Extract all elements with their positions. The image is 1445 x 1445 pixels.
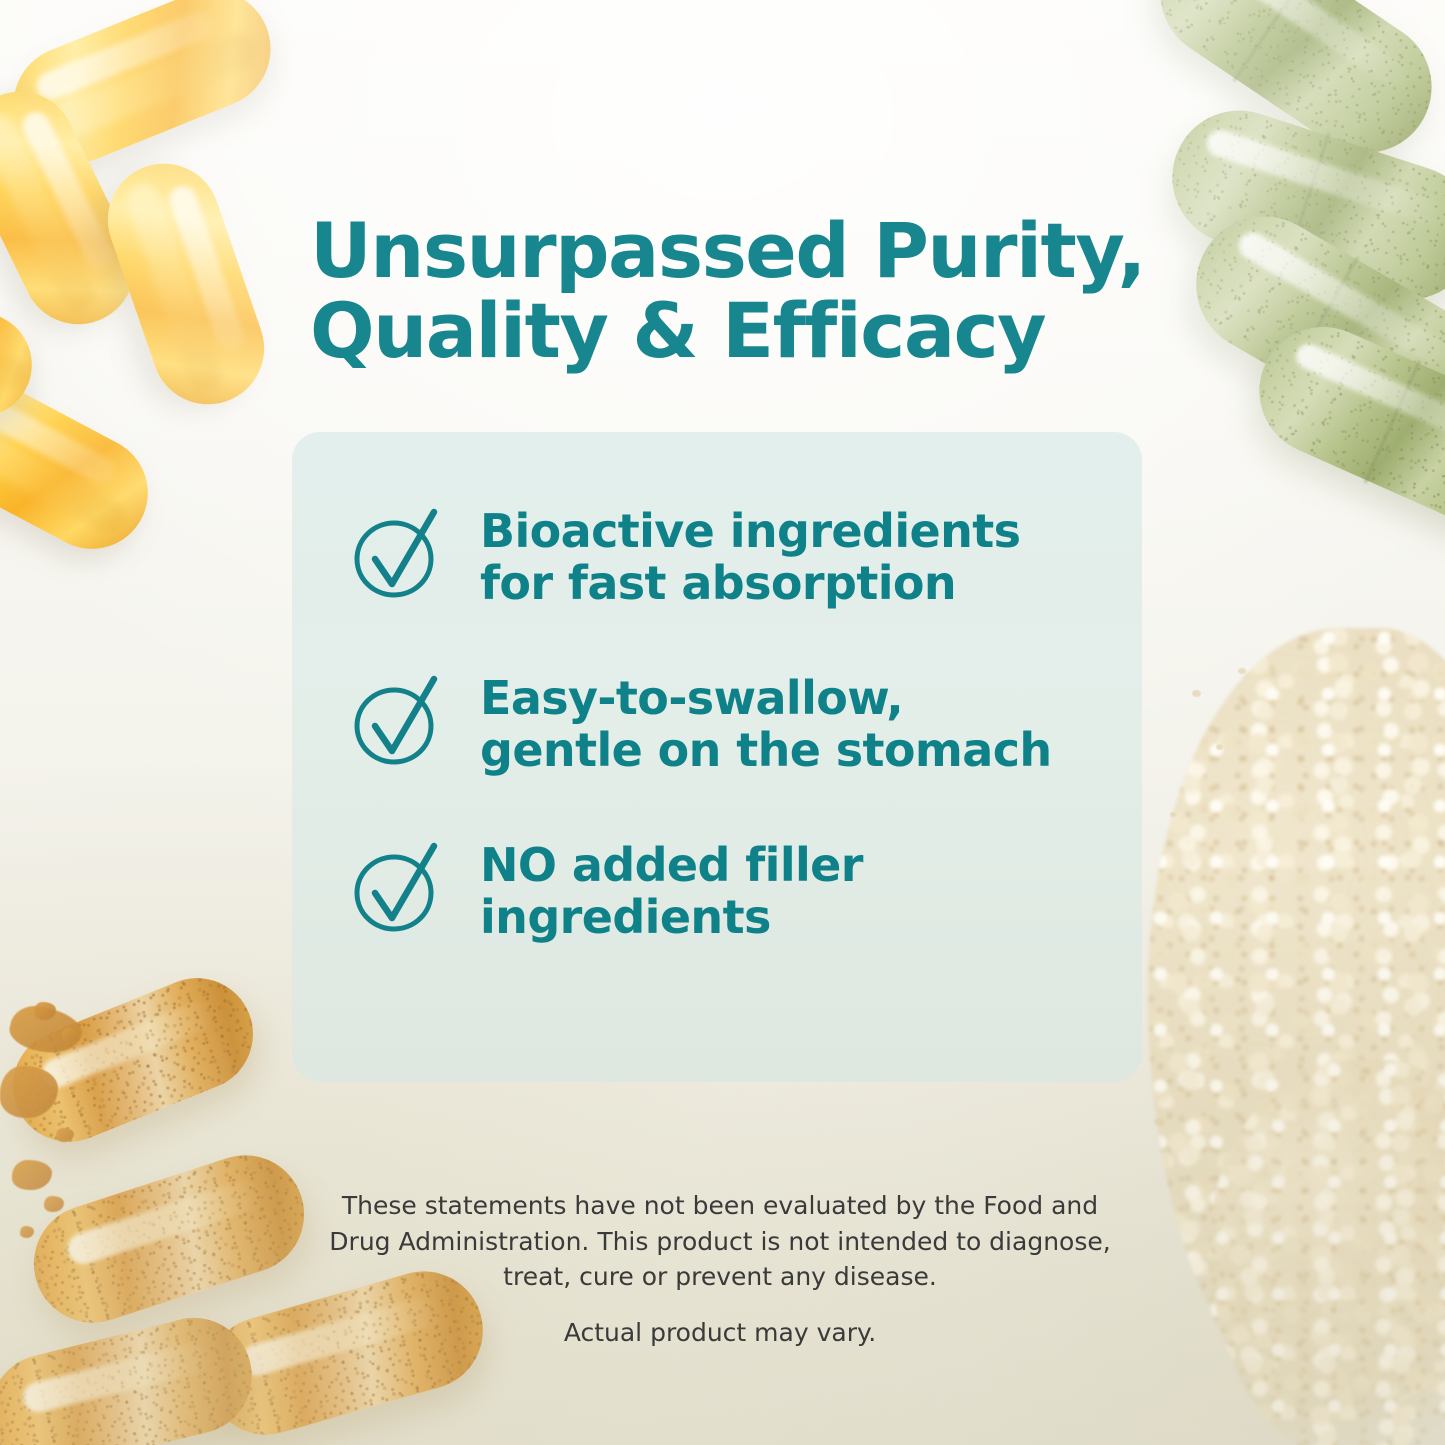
fda-disclaimer-line-2: Drug Administration. This product is not…	[300, 1224, 1140, 1260]
turmeric-capsule	[0, 961, 270, 1158]
amber-softgel-capsule	[0, 306, 39, 430]
powder-speck	[1216, 744, 1223, 750]
feature-line-1: NO added filler	[480, 840, 863, 892]
amber-softgel-capsule	[0, 351, 168, 568]
turmeric-powder-crumbs	[6, 1001, 86, 1059]
turmeric-capsule	[19, 1140, 320, 1338]
feature-list-card: Bioactive ingredients for fast absorptio…	[292, 432, 1142, 1082]
turmeric-powder-crumbs	[56, 1128, 74, 1142]
beige-protein-powder	[1148, 628, 1445, 1418]
fda-disclaimer-line-3: treat, cure or prevent any disease.	[300, 1259, 1140, 1295]
green-herbal-capsule	[1135, 0, 1445, 179]
turmeric-powder-crumbs	[12, 1160, 52, 1190]
feature-item-no-added-filler: NO added filler ingredients	[350, 834, 1090, 943]
green-herbal-capsule	[1155, 93, 1445, 317]
check-circle-icon	[350, 838, 446, 934]
feature-line-2: for fast absorption	[480, 558, 1020, 610]
feature-item-label: NO added filler ingredients	[480, 834, 863, 943]
page-title-line-2: Quality & Efficacy	[310, 291, 1160, 372]
beige-protein-powder	[1210, 1060, 1445, 1445]
product-variation-note: Actual product may vary.	[300, 1318, 1140, 1347]
check-circle-icon	[350, 504, 446, 600]
turmeric-powder-crumbs	[0, 1066, 58, 1118]
fda-disclaimer: These statements have not been evaluated…	[300, 1188, 1140, 1295]
feature-line-1: Bioactive ingredients	[480, 506, 1020, 558]
amber-softgel-capsule	[93, 149, 280, 420]
feature-line-1: Easy-to-swallow,	[480, 673, 1052, 725]
turmeric-capsule	[0, 1306, 264, 1445]
powder-speck	[1192, 690, 1201, 697]
feature-line-2: ingredients	[480, 892, 863, 944]
check-circle-icon	[350, 671, 446, 767]
powder-speck	[1238, 668, 1246, 674]
fda-disclaimer-line-1: These statements have not been evaluated…	[300, 1188, 1140, 1224]
feature-item-bioactive-ingredients: Bioactive ingredients for fast absorptio…	[350, 500, 1090, 609]
feature-item-easy-to-swallow: Easy-to-swallow, gentle on the stomach	[350, 667, 1090, 776]
feature-item-label: Bioactive ingredients for fast absorptio…	[480, 500, 1020, 609]
page-title-line-1: Unsurpassed Purity,	[310, 206, 1145, 295]
green-herbal-capsule	[1171, 192, 1445, 469]
amber-softgel-capsule	[0, 73, 153, 343]
powder-speck	[1154, 1118, 1162, 1125]
powder-speck	[1170, 812, 1176, 817]
turmeric-powder-crumbs	[20, 1226, 34, 1238]
promo-banner: Unsurpassed Purity, Quality & Efficacy B…	[0, 0, 1445, 1445]
amber-softgel-capsule	[0, 0, 288, 182]
feature-item-label: Easy-to-swallow, gentle on the stomach	[480, 667, 1052, 776]
feature-line-2: gentle on the stomach	[480, 725, 1052, 777]
turmeric-powder-crumbs	[34, 1002, 56, 1020]
green-herbal-capsule	[1239, 307, 1445, 546]
turmeric-powder-crumbs	[44, 1196, 64, 1212]
turmeric-powder-crumbs	[62, 1028, 78, 1042]
page-title: Unsurpassed Purity, Quality & Efficacy	[310, 211, 1160, 372]
